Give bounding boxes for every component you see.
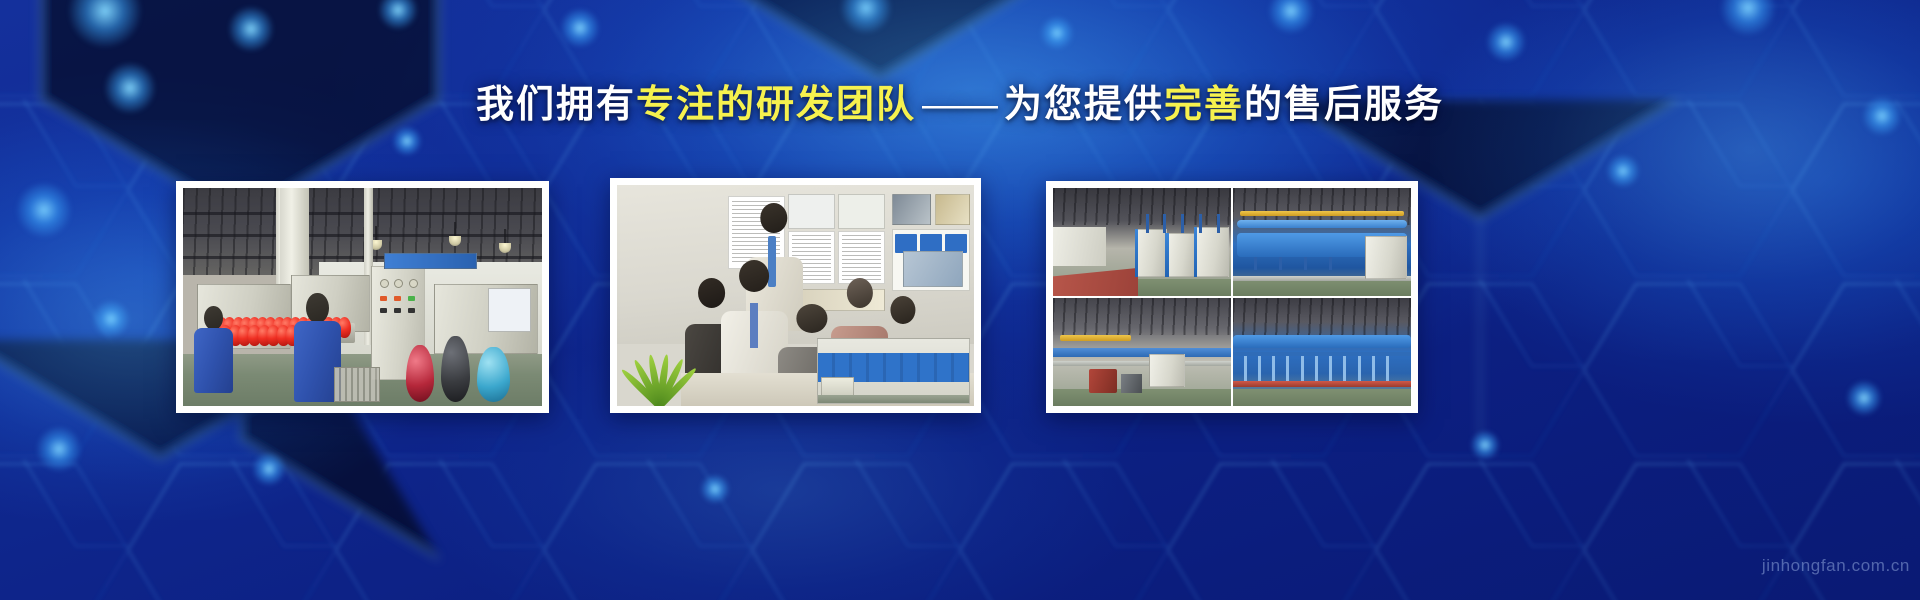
headline-dash: —— [916, 84, 1004, 126]
headline-segment-2: 专注的研发团队 [636, 84, 916, 126]
equipment-inset [817, 338, 971, 404]
plant-foliage [624, 326, 703, 406]
headline-segment-5: 的售后服务 [1244, 84, 1444, 126]
collage-cell-bottom-left [1053, 298, 1231, 406]
workshop-collage-photo-image [1053, 188, 1411, 406]
page-title: 我们拥有专注的研发团队——为您提供完善的售后服务 [0, 82, 1920, 128]
headline-segment-4: 完善 [1164, 84, 1244, 126]
collage-cell-bottom-right [1233, 298, 1411, 406]
collage-cell-top-right [1233, 188, 1411, 296]
production-line-photo-image [183, 188, 542, 406]
site-watermark: jinhongfan.com.cn [1762, 556, 1910, 576]
product-vase [406, 345, 435, 402]
workshop-collage-photo[interactable] [1046, 181, 1418, 413]
team-meeting-photo[interactable] [610, 178, 981, 413]
headline-segment-3: 为您提供 [1004, 84, 1164, 126]
product-vase [477, 347, 509, 402]
headline-segment-1: 我们拥有 [476, 84, 636, 126]
production-line-photo[interactable] [176, 181, 549, 413]
team-meeting-photo-image [617, 185, 974, 406]
collage-cell-top-left [1053, 188, 1231, 296]
banner-background: 我们拥有专注的研发团队——为您提供完善的售后服务 [0, 0, 1920, 600]
